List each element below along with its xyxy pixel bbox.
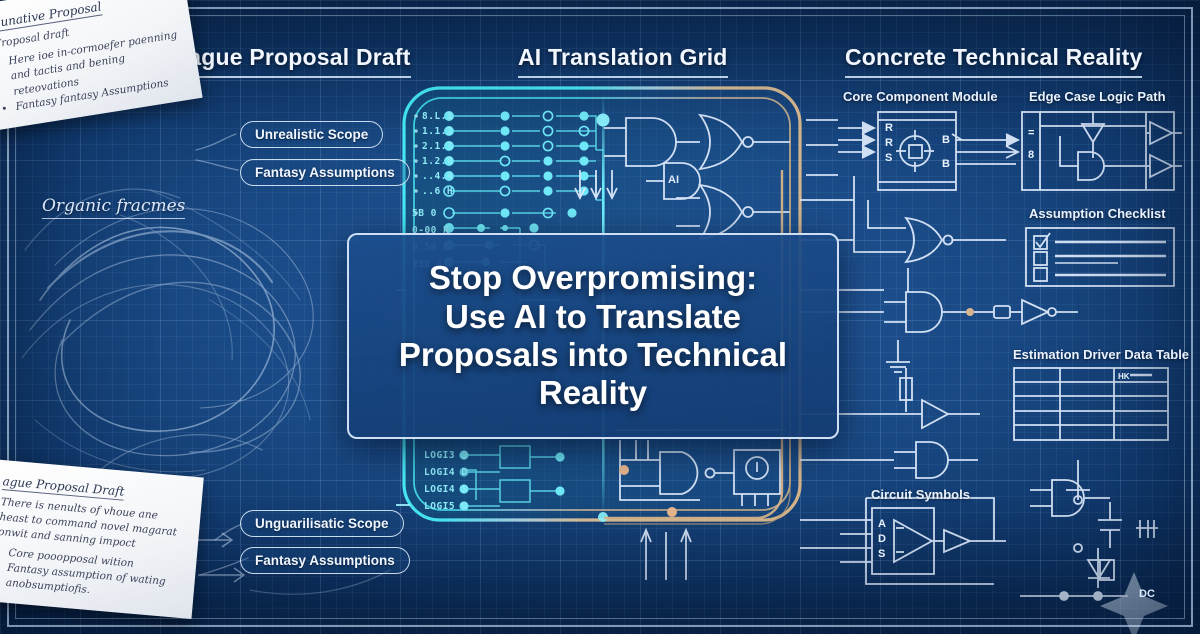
grid-rowlabels-top-item: 1.2.0: [422, 156, 453, 167]
grid-rowlabels-top-item: ..6 H: [422, 186, 453, 197]
circuit-pins-item: A: [878, 518, 886, 530]
section-heading-technical-reality: Concrete Technical Reality: [845, 44, 1142, 78]
page-title: Stop Overpromising: Use AI to Translate …: [385, 259, 801, 412]
grid-rowlabels-top-item: ..4.4: [422, 171, 453, 182]
dc-label: DC: [1139, 588, 1155, 600]
edge-sidelabels-item: =: [1028, 127, 1034, 139]
label-core-component-module: Core Component Module: [843, 89, 998, 104]
sticky-note-bottom: ague Proposal Draft There is nenults of …: [0, 459, 204, 619]
sticky-note-top: Uunative Proposal Vroposal draft Here io…: [0, 0, 203, 131]
label-assumption-checklist: Assumption Checklist: [1029, 206, 1166, 221]
grid-rowlabels-top-item: 1.1.2: [422, 126, 453, 137]
section-heading-ai-translation: AI Translation Grid: [518, 44, 728, 78]
label-estimation-driver-data-table: Estimation Driver Data Table: [1013, 347, 1189, 362]
title-card: Stop Overpromising: Use AI to Translate …: [347, 233, 839, 439]
grid-rowlabels-bottom-item: LOGI5 G: [424, 501, 468, 512]
sparkle-icon: [1100, 572, 1168, 634]
pill-unrealistic-scope[interactable]: Unrealistic Scope: [240, 121, 383, 148]
edge-sidelabels-item: 8: [1028, 149, 1034, 161]
ai-chip-label: AI: [668, 174, 679, 186]
core-pins-item: R: [885, 122, 893, 134]
core-pins-item: S: [885, 152, 892, 164]
pill-fantasy-assumptions[interactable]: Fantasy Assumptions: [240, 159, 410, 186]
table-header-hk: HK: [1118, 372, 1130, 381]
title-line-1: Stop Overpromising:: [429, 259, 757, 296]
title-line-3: Proposals into Technical: [399, 336, 787, 373]
pill-fantasy-assumptions-lower[interactable]: Fantasy Assumptions: [240, 547, 410, 574]
grid-rowlabels-top-item: 8.L.1: [422, 111, 453, 122]
pill-unguarilisatic-scope[interactable]: Unguarilisatic Scope: [240, 510, 404, 537]
core-pins-item: R: [885, 137, 893, 149]
label-circuit-symbols: Circuit Symbols: [871, 487, 970, 502]
grid-rowlabels-bottom-item: LOGI4 D: [424, 467, 468, 478]
title-line-4: Reality: [539, 374, 647, 411]
grid-rowlabels-bottom-item: LOGI4 S: [424, 484, 468, 495]
core-outpins-item: B: [942, 158, 950, 170]
circuit-pins-item: D: [878, 533, 886, 545]
organic-fracmes-label: Organic fracmes: [42, 196, 185, 219]
grid-rowlabels-top-item: 2.1.3: [422, 141, 453, 152]
section-heading-vague-proposal: Vague Proposal Draft: [174, 44, 411, 78]
grid-rowlabels-bottom-item: LOGI3 3: [424, 450, 468, 461]
core-outpins-item: B: [942, 134, 950, 146]
grid-rowlabels-top-item: 5B 0: [412, 208, 437, 219]
label-edge-case-logic-path: Edge Case Logic Path: [1029, 89, 1166, 104]
circuit-pins-item: S: [878, 548, 885, 560]
blueprint-canvas: Vague Proposal Draft AI Translation Grid…: [0, 0, 1200, 634]
title-line-2: Use AI to Translate: [445, 298, 741, 335]
